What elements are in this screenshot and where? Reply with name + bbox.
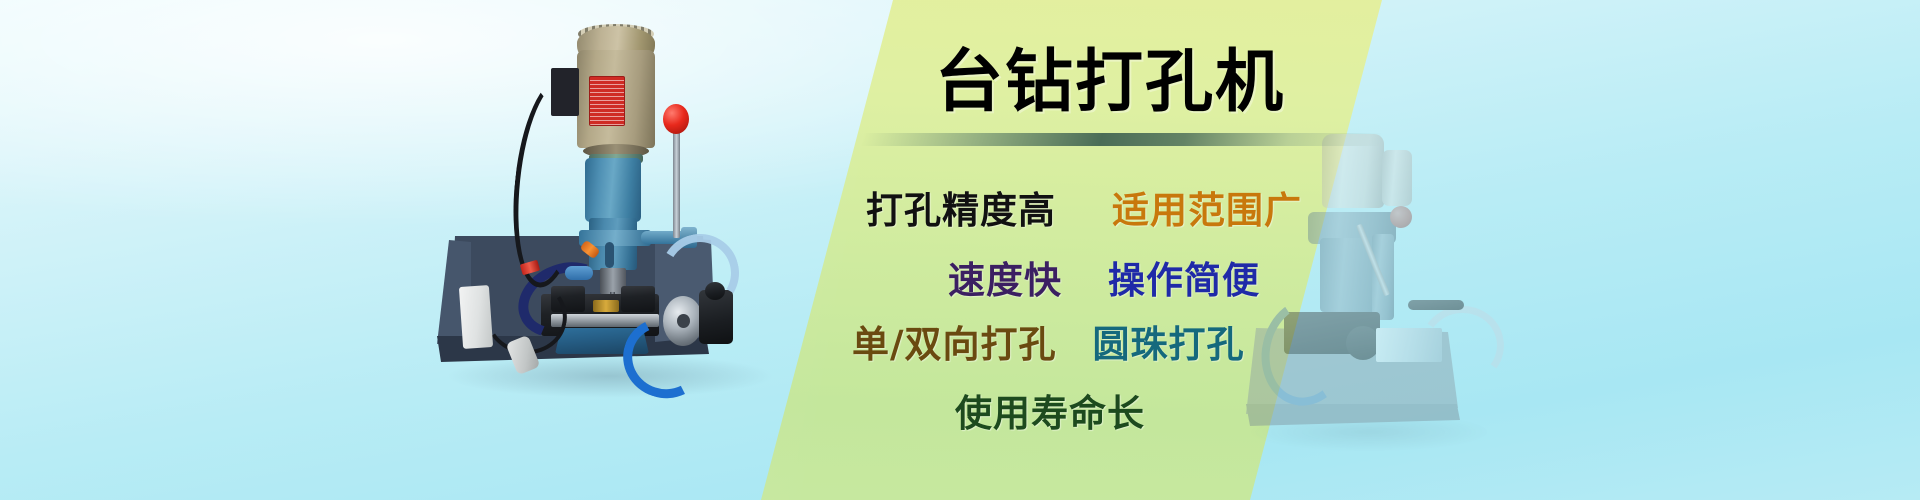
- feature-label-easy-operation: 操作简便: [1108, 250, 1260, 304]
- page-title: 台钻打孔机: [930, 44, 1290, 120]
- feature-row-2: 速度快 操作简便: [948, 250, 1260, 304]
- feature-label-long-life: 使用寿命长: [955, 383, 1145, 437]
- feature-label-speed: 速度快: [948, 250, 1062, 304]
- primary-machine-image: [455, 18, 765, 488]
- feature-row-3: 单/双向打孔 圆珠打孔: [852, 314, 1245, 368]
- feature-row-1: 打孔精度高 适用范围广: [866, 180, 1302, 234]
- feature-label-single-double-drilling: 单/双向打孔: [852, 314, 1057, 368]
- feature-label-range: 适用范围广: [1112, 180, 1302, 234]
- feature-row-4: 使用寿命长: [955, 383, 1145, 437]
- feature-label-precision: 打孔精度高: [866, 180, 1056, 234]
- feature-label-bead-drilling: 圆珠打孔: [1093, 314, 1245, 368]
- title-divider: [860, 133, 1383, 146]
- product-banner: 台钻打孔机 打孔精度高 适用范围广 速度快 操作简便 单/双向打孔 圆珠打孔 使…: [0, 0, 1920, 500]
